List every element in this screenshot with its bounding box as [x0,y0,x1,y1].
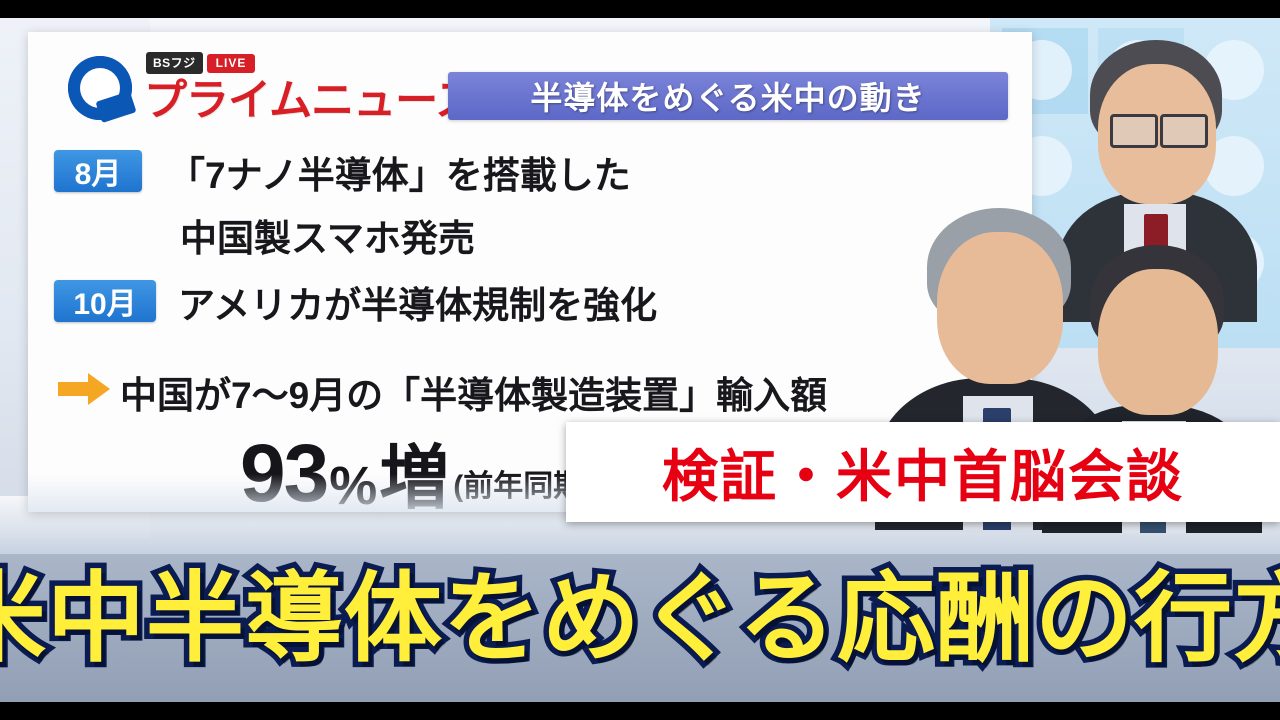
glasses-icon [1110,114,1158,148]
program-title: プライムニュース [144,66,477,128]
highlight-percent: % [329,459,377,513]
subtitle-text: 検証・米中首脳会談 [662,432,1184,513]
timeline-august-line1: 「7ナノ半導体」を搭載した [168,145,631,199]
headline-ribbon: 半導体をめぐる米中の動き [448,72,1008,120]
highlight-number: 93 [240,435,327,513]
month-tag-october: 10月 [54,280,156,322]
subtitle-banner: 検証・米中首脳会談 [566,422,1280,522]
timeline-october-line1: アメリカが半導体規制を強化 [178,275,657,329]
letterbox-bar-top [0,0,1280,18]
month-tag-august: 8月 [54,150,142,192]
highlight-suffix: 増 [379,443,449,513]
program-logo: BSフジ LIVE プライムニュース [46,46,426,128]
highlight-text: 中国が7〜9月の「半導体製造装置」輸入額 [120,365,827,419]
video-frame: BSフジ LIVE プライムニュース 半導体をめぐる米中の動き 8月 「7ナノ半… [0,0,1280,720]
headline-text: 半導体をめぐる米中の動き [530,73,925,119]
eye-logo-icon [68,56,132,120]
main-title-banner: 米中半導体をめぐる応酬の行方 [0,530,1280,690]
main-title-text: 米中半導体をめぐる応酬の行方 [0,539,1280,681]
broadcast-video: BSフジ LIVE プライムニュース 半導体をめぐる米中の動き 8月 「7ナノ半… [0,18,1280,702]
letterbox-bar-bottom [0,702,1280,720]
glasses-icon [1160,114,1208,148]
timeline-august-line2: 中国製スマホ発売 [180,208,475,262]
